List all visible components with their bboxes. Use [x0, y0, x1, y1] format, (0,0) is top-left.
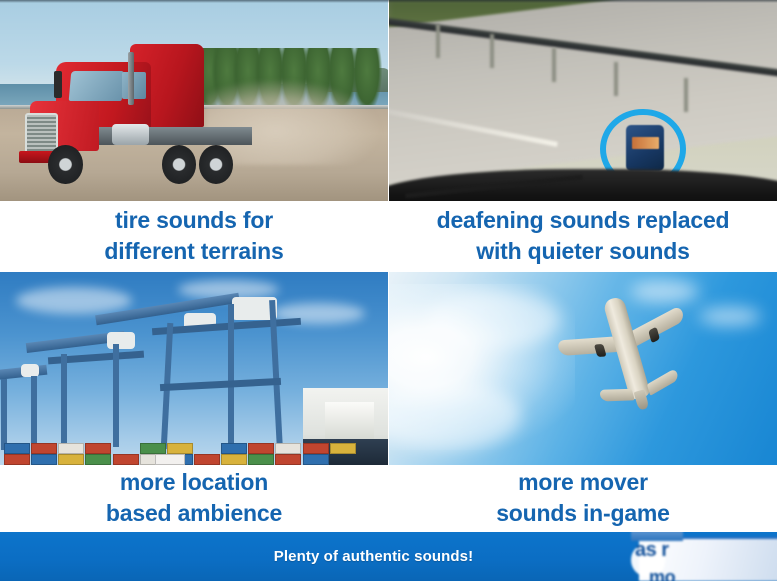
top-edge-shadow — [0, 0, 777, 3]
airplane-illustration — [389, 272, 777, 465]
feature-card-mover-sounds[interactable]: more mover sounds in-game — [389, 272, 777, 532]
overlay-artifact: as r mo — [631, 532, 777, 581]
fedex-container — [155, 454, 185, 465]
caption-line-1: deafening sounds replaced — [437, 205, 730, 235]
port-illustration — [0, 272, 388, 465]
screenshot-driver-pov-highway — [389, 0, 777, 201]
semi-truck — [19, 38, 283, 187]
caption-line-2: different terrains — [104, 236, 283, 266]
artifact-text-2: mo — [649, 567, 675, 581]
feature-card-deafening-sounds[interactable]: deafening sounds replaced with quieter s… — [389, 0, 777, 272]
caption-line-1: more location — [120, 467, 268, 497]
highway-pov-illustration — [389, 0, 777, 201]
caption-location-ambience: more location based ambience — [0, 465, 388, 532]
caption-mover-sounds: more mover sounds in-game — [389, 465, 777, 532]
feature-card-location-ambience[interactable]: more location based ambience — [0, 272, 388, 532]
artifact-blob — [631, 543, 665, 577]
feature-grid: tire sounds for different terrains — [0, 0, 777, 532]
screenshot-airplane-sky — [389, 272, 777, 465]
feature-card-tire-sounds[interactable]: tire sounds for different terrains — [0, 0, 388, 272]
sun-glare — [389, 284, 575, 450]
caption-line-2: sounds in-game — [496, 498, 670, 528]
bottom-banner: Plenty of authentic sounds! as r mo — [0, 532, 777, 581]
truck-illustration — [0, 0, 388, 201]
caption-line-2: with quieter sounds — [476, 236, 689, 266]
artifact-tab — [631, 532, 683, 541]
caption-line-2: based ambience — [106, 498, 282, 528]
artifact-text-1: as r — [635, 539, 669, 562]
caption-deafening-sounds: deafening sounds replaced with quieter s… — [389, 201, 777, 272]
caption-line-1: more mover — [518, 467, 648, 497]
screenshot-shipping-port — [0, 272, 388, 465]
container-stacks — [0, 415, 388, 465]
screenshot-truck-coastal-road — [0, 0, 388, 201]
artifact-panel — [639, 537, 777, 581]
caption-tire-sounds: tire sounds for different terrains — [0, 201, 388, 272]
caption-line-1: tire sounds for — [115, 205, 273, 235]
slide-root: tire sounds for different terrains — [0, 0, 777, 581]
banner-text: Plenty of authentic sounds! — [274, 548, 473, 565]
